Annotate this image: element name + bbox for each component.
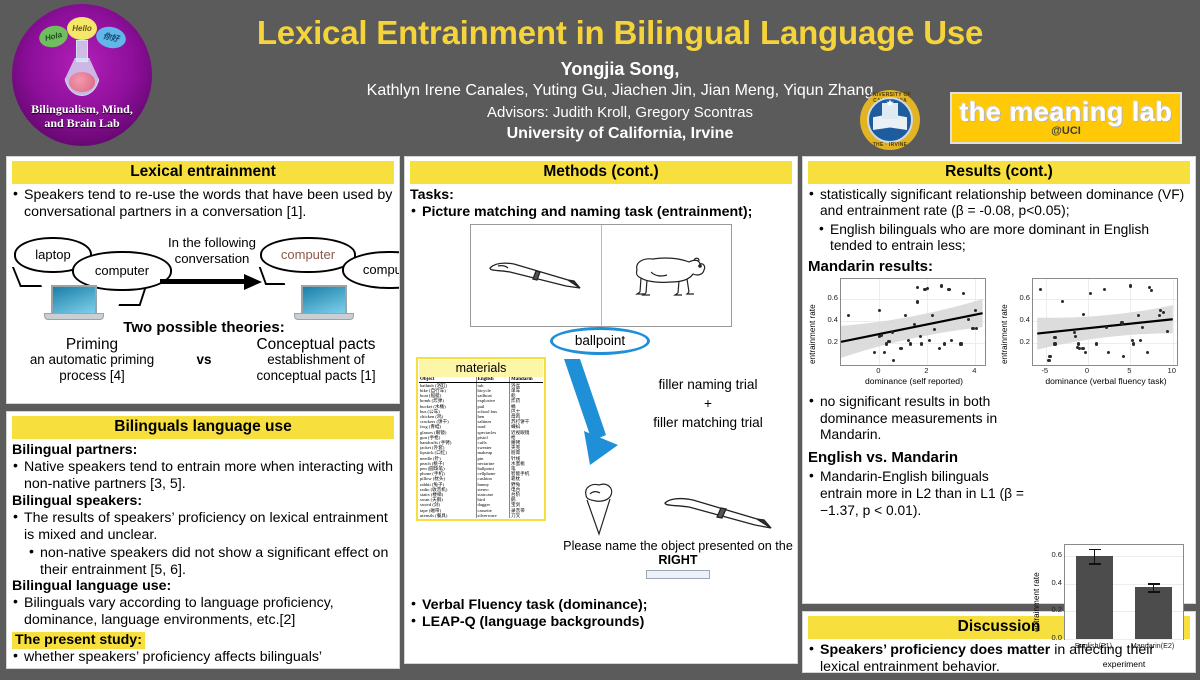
poster-columns: Lexical entrainment Speakers tend to re-… xyxy=(0,156,1200,675)
error-bar-cap xyxy=(1148,591,1160,593)
list-item: Picture matching and naming task (entrai… xyxy=(410,204,792,221)
affiliation: University of California, Irvine xyxy=(170,123,1070,145)
ice-cream-cone-icon xyxy=(578,479,620,537)
table-row: utensils (餐具)silverware刀叉 xyxy=(419,513,543,518)
data-point xyxy=(959,342,962,345)
list-item: Speakers’ proficiency does matter in aff… xyxy=(808,642,1190,673)
stimulus-left-pen xyxy=(471,225,601,326)
error-bar-cap xyxy=(1148,583,1160,585)
error-bar-cap xyxy=(1089,563,1101,565)
data-point xyxy=(887,340,890,343)
y-tick-label: 0.6 xyxy=(1042,550,1062,559)
poster: Hola Hello 你好 Bilingualism, Mind, and Br… xyxy=(0,0,1200,675)
left-column: Lexical entrainment Speakers tend to re-… xyxy=(6,156,400,676)
x-tick-label: 0 xyxy=(870,366,886,375)
picture-matching-stimulus xyxy=(470,224,732,327)
discussion-bold-text: Speakers’ proficiency does matter xyxy=(820,642,1050,658)
poster-title: Lexical Entrainment in Bilingual Languag… xyxy=(170,14,1070,52)
co-authors: Kathlyn Irene Canales, Yuting Gu, Jiache… xyxy=(170,80,1070,102)
x-tick-label: 2 xyxy=(918,366,934,375)
data-point xyxy=(1141,326,1144,329)
data-point xyxy=(947,288,950,291)
list-item: no significant results in both dominance… xyxy=(808,394,1043,443)
mandarin-results-heading: Mandarin results: xyxy=(808,259,1190,276)
primary-author: Yongjia Song, xyxy=(170,58,1070,80)
panel-heading-methods: Methods (cont.) xyxy=(410,161,792,184)
theory-priming-desc: an automatic priming process [4] xyxy=(12,352,172,383)
trial-response-input[interactable] xyxy=(646,570,710,579)
x-tick-label: 0 xyxy=(1079,366,1095,375)
x-tick-label: -5 xyxy=(1037,366,1053,375)
leapq-text: LEAP-Q (language backgrounds) xyxy=(422,614,644,630)
list-item: statistically significant relationship b… xyxy=(808,187,1190,220)
methods-body: materials Object English Mandarin bathtu… xyxy=(410,357,792,595)
data-point xyxy=(1077,342,1080,345)
conversation-diagram: laptop computer computer computer In the… xyxy=(12,223,394,358)
data-point xyxy=(1048,355,1051,358)
error-bar-cap xyxy=(1089,549,1101,551)
english-vs-mandarin-heading: English vs. Mandarin xyxy=(808,450,1190,467)
materials-box: materials Object English Mandarin bathtu… xyxy=(416,357,546,521)
data-point xyxy=(1129,284,1132,287)
list-item: Speakers tend to re-use the words that h… xyxy=(12,187,394,221)
arrow-label-line2: conversation xyxy=(160,251,264,267)
panel-lexical-entrainment: Lexical entrainment Speakers tend to re-… xyxy=(6,156,400,404)
data-point xyxy=(1120,321,1123,324)
x-tick-label: 4 xyxy=(966,366,982,375)
pen-icon xyxy=(484,253,588,297)
data-point xyxy=(847,314,850,317)
data-point xyxy=(878,309,881,312)
author-block: Yongjia Song, Kathlyn Irene Canales, Yut… xyxy=(170,58,1070,145)
ballpoint-callout: ballpoint xyxy=(470,327,732,357)
bar-ylabel: entrainment rate xyxy=(1032,552,1041,604)
filler-naming-trial: filler naming trial xyxy=(624,375,792,394)
list-item: Mandarin-English bilinguals entrain more… xyxy=(808,469,1028,519)
flask-icon xyxy=(64,40,100,100)
task-bullet-text: Picture matching and naming task (entrai… xyxy=(422,204,752,220)
data-point xyxy=(1073,331,1076,334)
y-tick-label: 0.6 xyxy=(818,293,838,302)
data-point xyxy=(1158,314,1161,317)
poster-header: Hola Hello 你好 Bilingualism, Mind, and Br… xyxy=(0,0,1200,156)
meaning-lab-title: the meaning lab xyxy=(959,99,1172,126)
panel-results-cont: Results (cont.) statistically significan… xyxy=(802,156,1196,604)
y-tick-label: 0.6 xyxy=(1010,293,1030,302)
tasks-label: Tasks: xyxy=(410,187,792,204)
theories-title: Two possible theories: xyxy=(12,319,396,336)
lexical-entrainment-bullets: Speakers tend to re-use the words that h… xyxy=(12,187,394,221)
pen-icon-2 xyxy=(659,487,779,537)
arrow-label-line1: In the following xyxy=(160,235,264,251)
mandarin-scatter-charts: entrainment rate 0.20.40.6 024 dominance… xyxy=(808,278,1190,386)
theory-priming: Priming an automatic priming process [4] xyxy=(12,337,172,384)
theory-conceptual-pacts-title: Conceptual pacts xyxy=(236,337,396,353)
seal-bottom-text: THE · IRVINE xyxy=(860,142,920,148)
error-bar xyxy=(1094,549,1096,563)
middle-column: Methods (cont.) Tasks: Picture matching … xyxy=(404,156,798,671)
data-point xyxy=(899,347,902,350)
chart2-xlabel: dominance (verbal fluency task) xyxy=(1026,376,1186,386)
subheading-present-study: The present study: xyxy=(12,632,145,649)
chart2-ylabel: entrainment rate xyxy=(1000,292,1009,364)
theories-block: Two possible theories: Priming an automa… xyxy=(12,319,396,384)
chart-dominance-self-reported: entrainment rate 0.20.40.6 024 dominance… xyxy=(808,278,994,386)
bilingualism-mind-brain-lab-logo: Hola Hello 你好 Bilingualism, Mind, and Br… xyxy=(12,4,152,149)
y-tick-label: 0.4 xyxy=(1042,578,1062,587)
theory-conceptual-pacts-desc: establishment of conceptual pacts [1] xyxy=(236,352,396,383)
trial-prompt: Please name the object presented on the … xyxy=(558,539,798,567)
lab-name-line1: Bilingualism, Mind, xyxy=(12,102,152,116)
right-arrow-icon xyxy=(160,275,264,287)
trial-prompt-line1: Please name the object presented on the xyxy=(563,539,793,553)
materials-title: materials xyxy=(419,360,543,377)
ballpoint-label: ballpoint xyxy=(550,327,650,355)
theory-priming-title: Priming xyxy=(12,337,172,353)
lab-name: Bilingualism, Mind, and Brain Lab xyxy=(12,102,152,130)
data-point xyxy=(1132,342,1135,345)
data-point xyxy=(967,318,970,321)
data-point xyxy=(1074,335,1077,338)
right-column: Results (cont.) statistically significan… xyxy=(802,156,1196,680)
brain-icon xyxy=(69,72,95,92)
panel-bilinguals-language-use: Bilinguals language use Bilingual partne… xyxy=(6,411,400,669)
filler-matching-trial: filler matching trial xyxy=(624,413,792,432)
verbal-fluency-task-text: Verbal Fluency task (dominance); xyxy=(422,597,648,613)
chart-english-vs-mandarin-bar: entrainment rate 0.00.20.40.6 English(E1… xyxy=(1030,540,1188,604)
list-item: English bilinguals who are more dominant… xyxy=(818,222,1190,255)
data-point xyxy=(919,335,922,338)
y-tick-label: 0.4 xyxy=(1010,315,1030,324)
uci-seal-icon: UNIVERSITY OF CALIFORNIA THE · IRVINE xyxy=(860,90,920,150)
panel-heading-bilinguals-language-use: Bilinguals language use xyxy=(12,416,394,439)
filler-plus: + xyxy=(624,394,792,413)
data-point xyxy=(909,342,912,345)
list-item-nested: non-native speakers did not show a signi… xyxy=(28,545,394,579)
y-tick-label: 0.2 xyxy=(818,337,838,346)
data-point xyxy=(913,323,916,326)
panel-heading-lexical-entrainment: Lexical entrainment xyxy=(12,161,394,184)
fit-line-with-confidence-band xyxy=(1033,279,1177,365)
data-point xyxy=(885,342,888,345)
subheading-bilingual-language-use: Bilingual language use: xyxy=(12,578,394,595)
speech-bubble-hello-icon: Hello xyxy=(67,17,97,40)
theory-conceptual-pacts: Conceptual pacts establishment of concep… xyxy=(236,337,396,384)
list-item: Bilinguals vary according to language pr… xyxy=(12,595,394,629)
trial-prompt-line2: RIGHT xyxy=(558,553,798,567)
vs-label: vs xyxy=(196,352,211,367)
panel-methods-cont: Methods (cont.) Tasks: Picture matching … xyxy=(404,156,798,664)
filler-trial-text: filler naming trial + filler matching tr… xyxy=(624,375,792,432)
data-point xyxy=(962,292,965,295)
panel-heading-results: Results (cont.) xyxy=(808,161,1190,184)
the-meaning-lab-logo: the meaning lab @UCI xyxy=(950,92,1182,144)
list-item: The results of speakers’ proficiency on … xyxy=(12,510,394,544)
list-item: Verbal Fluency task (dominance); xyxy=(410,597,792,614)
table-cell: silverware xyxy=(476,513,509,518)
x-tick-label: 5 xyxy=(1121,366,1137,375)
data-point xyxy=(974,309,977,312)
data-point xyxy=(1053,342,1056,345)
x-tick-label: 10 xyxy=(1164,366,1180,375)
blue-down-arrow-icon xyxy=(560,359,630,467)
y-tick-label: 0.2 xyxy=(1010,337,1030,346)
subheading-bilingual-speakers: Bilingual speakers: xyxy=(12,493,394,510)
data-point xyxy=(1053,336,1056,339)
data-point xyxy=(938,347,941,350)
filler-trial-screen: Please name the object presented on the … xyxy=(558,475,798,579)
data-point xyxy=(1081,347,1084,350)
meaning-lab-subtitle: @UCI xyxy=(1051,125,1081,137)
table-cell: 刀叉 xyxy=(510,513,544,518)
y-tick-label: 0.4 xyxy=(818,315,838,324)
data-point xyxy=(1095,342,1098,345)
list-item: Native speakers tend to entrain more whe… xyxy=(12,459,394,493)
chart1-ylabel: entrainment rate xyxy=(808,292,817,364)
advisors: Advisors: Judith Kroll, Gregory Scontras xyxy=(170,102,1070,123)
stimulus-right-bear xyxy=(601,225,732,326)
materials-table: Object English Mandarin bathtub (浴缸)tub浴… xyxy=(419,377,543,518)
chart-dominance-verbal-fluency: entrainment rate 0.20.40.6 -50510 domina… xyxy=(1000,278,1186,386)
table-cell: utensils (餐具) xyxy=(419,513,476,518)
subheading-bilingual-partners: Bilingual partners: xyxy=(12,442,394,459)
chart1-xlabel: dominance (self reported) xyxy=(834,376,994,386)
list-item: whether speakers’ proficiency affects bi… xyxy=(12,649,394,666)
lab-name-line2: and Brain Lab xyxy=(12,116,152,130)
data-point xyxy=(920,342,923,345)
list-item: LEAP-Q (language backgrounds) xyxy=(410,614,792,631)
data-point xyxy=(1047,359,1050,362)
data-point xyxy=(1103,288,1106,291)
data-point xyxy=(943,342,946,345)
arrow-label: In the following conversation xyxy=(160,235,264,267)
bear-icon xyxy=(623,250,709,300)
